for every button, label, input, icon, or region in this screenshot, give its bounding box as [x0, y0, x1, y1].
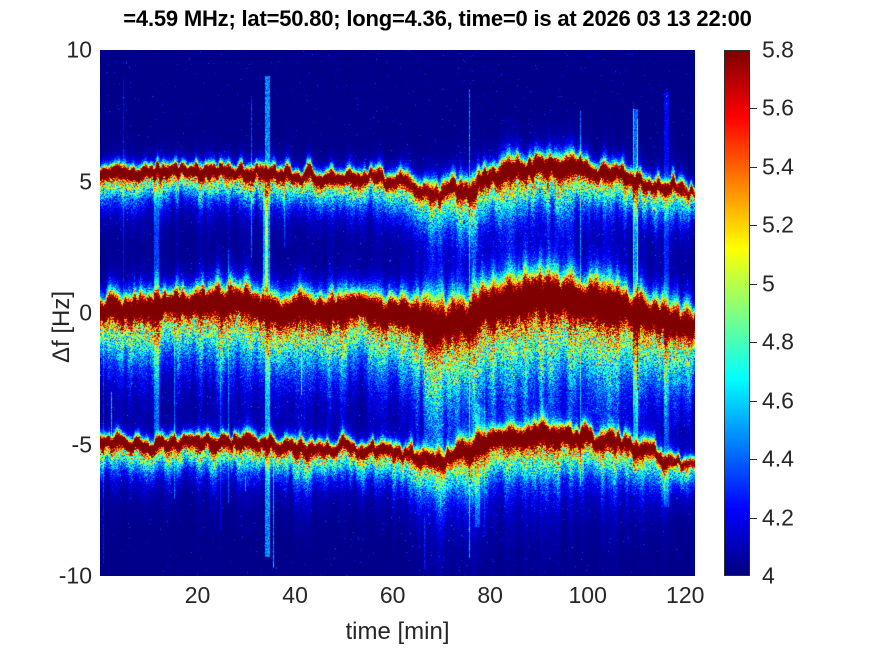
y-axis-label: Δf [Hz] [48, 227, 76, 427]
y-tick-label: -10 [4, 563, 92, 590]
x-tick-label: 40 [282, 582, 308, 609]
colorbar-gradient [725, 51, 749, 575]
colorbar-tick-mark [750, 518, 757, 519]
colorbar-tick-label: 4.2 [762, 504, 794, 531]
colorbar-tick-label: 5.6 [762, 95, 794, 122]
colorbar-tick-mark [750, 342, 757, 343]
x-axis-label: time [min] [100, 618, 695, 646]
colorbar-tick-label: 5 [762, 270, 775, 297]
colorbar-tick-mark [750, 225, 757, 226]
y-tick-label: 5 [4, 168, 92, 195]
colorbar-tick-label: 5.4 [762, 153, 794, 180]
colorbar-tick-label: 5.8 [762, 37, 794, 64]
colorbar-tick-mark [750, 401, 757, 402]
colorbar-tick-label: 4 [762, 563, 775, 590]
y-tick-label: 10 [4, 37, 92, 64]
x-tick-label: 80 [477, 582, 503, 609]
colorbar-tick-label: 4.6 [762, 387, 794, 414]
spectrogram-image [100, 50, 695, 576]
x-tick-label: 100 [569, 582, 607, 609]
colorbar-tick-mark [750, 108, 757, 109]
colorbar-tick-label: 4.8 [762, 329, 794, 356]
colorbar-tick-label: 4.4 [762, 446, 794, 473]
colorbar-tick-mark [750, 284, 757, 285]
colorbar-tick-mark [750, 167, 757, 168]
colorbar[interactable] [724, 50, 750, 576]
x-tick-label: 120 [666, 582, 704, 609]
colorbar-tick-mark [750, 459, 757, 460]
colorbar-tick-label: 5.2 [762, 212, 794, 239]
matlab-figure: =4.59 MHz; lat=50.80; long=4.36, time=0 … [0, 0, 875, 656]
spectrogram-axes[interactable] [100, 50, 695, 576]
y-tick-label: -5 [4, 431, 92, 458]
plot-title: =4.59 MHz; lat=50.80; long=4.36, time=0 … [0, 6, 875, 32]
x-tick-label: 60 [380, 582, 406, 609]
x-tick-label: 20 [185, 582, 211, 609]
